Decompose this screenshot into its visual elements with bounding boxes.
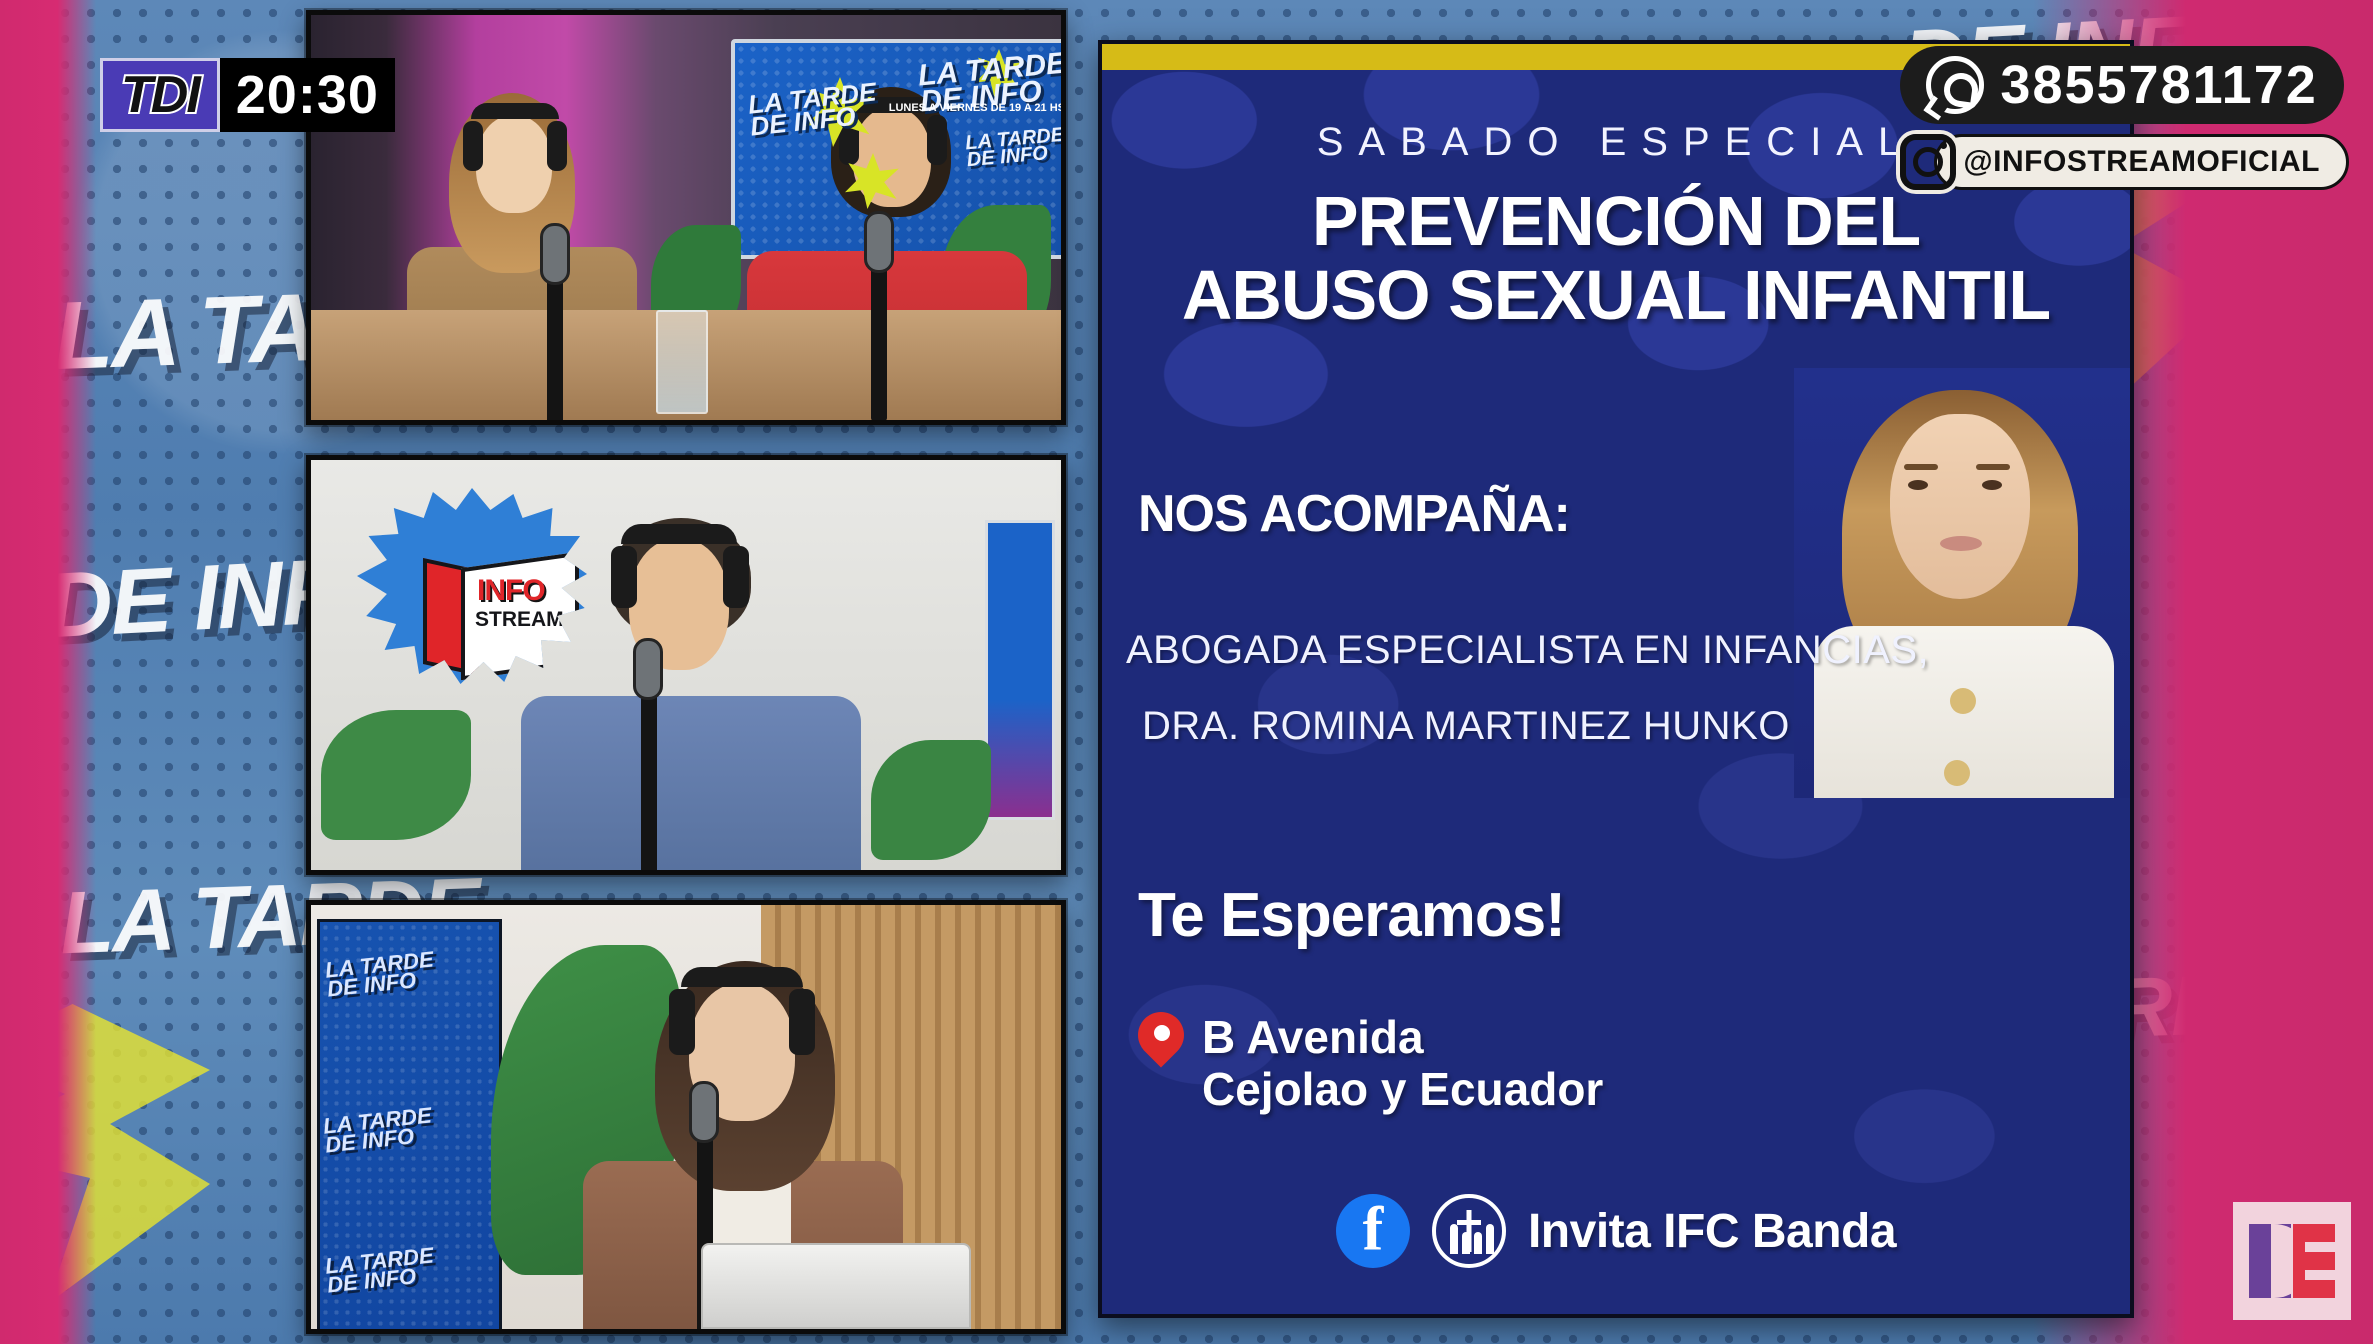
plant [321,710,471,840]
video-panel-studio-wide[interactable]: LA TARDE DE INFO LA TARDE DE INFO LUNES … [306,10,1066,425]
water-glass [656,310,708,414]
instagram-pill[interactable]: @INFOSTREAMOFICIAL [1934,134,2349,190]
microphone [540,223,570,285]
plant [871,740,991,860]
contact-overlay: 3855781172 @INFOSTREAMOFICIAL [1900,46,2349,190]
flyer-footer: Invita IFC Banda [1102,1194,2130,1268]
instagram-icon [1900,134,1956,190]
logo-text-info: INFO [477,574,545,608]
microphone [633,638,663,700]
backdrop-caption: LA TARDE DE INFO [965,127,1066,169]
guest-portrait [1794,368,2130,798]
poster-caption: LA TARDE DE INFO [322,1106,434,1155]
microphone [689,1081,719,1143]
background-pink-edge-left [0,0,96,1344]
facebook-icon[interactable] [1336,1194,1410,1268]
whatsapp-icon [1926,56,1984,114]
guest-label: NOS ACOMPAÑA: [1138,484,1570,544]
headline-line-1: PREVENCIÓN DEL [1102,184,2130,258]
call-to-action: Te Esperamos! [1138,880,1565,951]
clock-text: 20:30 [236,64,379,126]
address-line-1: B Avenida [1202,1012,1603,1064]
video-panel-guest-panelist[interactable]: LA TARDE DE INFO LA TARDE DE INFO LA TAR… [306,900,1066,1334]
network-logo [2233,1202,2351,1320]
address-block: B Avenida Cejolao y Ecuador [1138,1012,1603,1115]
ifc-church-icon [1432,1194,1506,1268]
channel-logo: TDI [100,58,220,132]
whatsapp-number: 3855781172 [2000,54,2317,116]
channel-logo-text: TDI [121,65,199,125]
on-air-clock: 20:30 [220,58,395,132]
guest-role: ABOGADA ESPECIALISTA EN INFANCIAS, [1126,628,1929,673]
de-logo-mark [2249,1224,2335,1298]
video-panel-host-solo[interactable]: INFO STREAM [306,455,1066,875]
backdrop-schedule: LUNES A VIERNES DE 19 A 21 HS [889,101,1065,115]
whatsapp-pill[interactable]: 3855781172 [1900,46,2343,124]
address-line-2: Cejolao y Ecuador [1202,1064,1603,1116]
backdrop-poster: LA TARDE DE INFO LA TARDE DE INFO LA TAR… [317,919,502,1334]
guest-name: DRA. ROMINA MARTINEZ HUNKO [1142,704,1790,749]
instagram-handle: @INFOSTREAMOFICIAL [1963,145,2320,179]
scene-host-solo: INFO STREAM [311,460,1061,870]
map-pin-icon [1138,1012,1184,1074]
poster-caption: LA TARDE DE INFO [324,1246,436,1295]
headline-line-2: ABUSO SEXUAL INFANTIL [1102,258,2130,332]
invite-text: Invita IFC Banda [1528,1204,1896,1259]
microphone-stand [641,670,657,875]
microphone [864,211,894,273]
channel-bug: TDI 20:30 [100,58,395,132]
wall-screen [985,520,1055,820]
scene-guest-panelist: LA TARDE DE INFO LA TARDE DE INFO LA TAR… [311,905,1061,1329]
logo-text-stream: STREAM [475,608,564,632]
laptop [701,1243,971,1329]
scene-two-hosts: LA TARDE DE INFO LA TARDE DE INFO LUNES … [311,15,1061,420]
flyer-headline: PREVENCIÓN DEL ABUSO SEXUAL INFANTIL [1102,184,2130,332]
broadcast-screen: LA TARDE DE INFO LA TARDE DE INFO LA TAR… [0,0,2373,1344]
event-flyer-panel: SABADO ESPECIAL PREVENCIÓN DEL ABUSO SEX… [1098,40,2134,1318]
poster-caption: LA TARDE DE INFO [324,950,436,999]
